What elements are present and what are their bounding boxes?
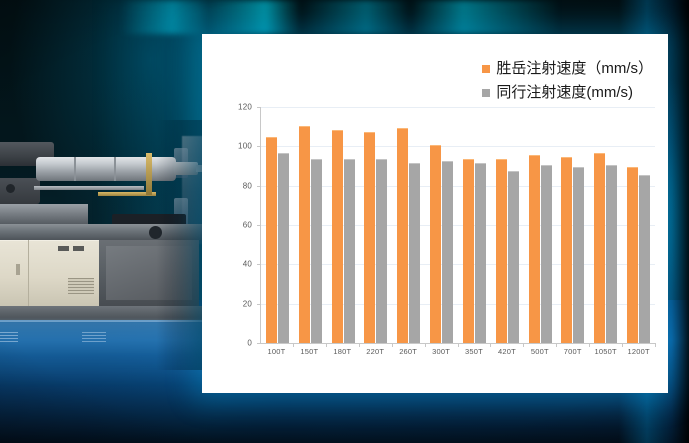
bar-series-1	[364, 132, 375, 343]
bar-group	[458, 107, 491, 343]
legend-swatch-icon-series-1	[482, 65, 490, 73]
bar-series-1	[332, 130, 343, 343]
bar-series-2	[442, 161, 453, 343]
x-axis-tick-label: 350T	[458, 347, 491, 356]
bar-group	[392, 107, 425, 343]
bar-series-2	[278, 153, 289, 343]
bar-series-1	[496, 159, 507, 343]
bar-group	[294, 107, 327, 343]
y-axis-tick-label: 100	[238, 142, 252, 151]
bar-group	[425, 107, 458, 343]
bar-group	[589, 107, 622, 343]
screenshot-stage: 胜岳注射速度（mm/s） 同行注射速度(mm/s) 02040608010012…	[0, 0, 689, 443]
x-axis-tick-label: 1050T	[589, 347, 622, 356]
bar-series-2	[541, 165, 552, 343]
bar-series-2	[639, 175, 650, 343]
x-axis-tick-label: 260T	[392, 347, 425, 356]
bar-series-2	[376, 159, 387, 343]
x-axis-tick-label: 1200T	[622, 347, 655, 356]
bar-series-2	[344, 159, 355, 343]
y-axis-tick-label: 80	[243, 181, 252, 190]
bar-series-1	[594, 153, 605, 343]
bar-series-1	[463, 159, 474, 343]
y-axis-tick-label: 20	[243, 299, 252, 308]
x-axis-tick-label: 500T	[523, 347, 556, 356]
x-axis-tick-label: 180T	[326, 347, 359, 356]
legend-swatch-icon-series-2	[482, 89, 490, 97]
bar-group	[261, 107, 294, 343]
bar-series-1	[266, 137, 277, 343]
bar-group	[491, 107, 524, 343]
bar-series-2	[311, 159, 322, 343]
bar-series-2	[606, 165, 617, 343]
bar-series-2	[475, 163, 486, 343]
x-axis-tick-label: 100T	[260, 347, 293, 356]
bar-group	[524, 107, 557, 343]
bar-group	[622, 107, 655, 343]
bar-group	[556, 107, 589, 343]
y-axis-tick-label: 0	[247, 339, 252, 348]
bar-series-1	[627, 167, 638, 343]
legend-label-series-2: 同行注射速度(mm/s)	[496, 85, 633, 100]
legend-item-series-2: 同行注射速度(mm/s)	[482, 85, 653, 100]
y-axis-tick-label: 60	[243, 221, 252, 230]
bar-series-1	[299, 126, 310, 343]
legend-item-series-1: 胜岳注射速度（mm/s）	[482, 61, 653, 76]
x-axis-tick-label: 220T	[359, 347, 392, 356]
legend-label-series-1: 胜岳注射速度（mm/s）	[496, 61, 653, 76]
x-axis-tick-label: 700T	[556, 347, 589, 356]
chart-panel: 胜岳注射速度（mm/s） 同行注射速度(mm/s) 02040608010012…	[202, 34, 668, 393]
bar-series-1	[430, 145, 441, 343]
bar-groups	[261, 107, 655, 343]
bar-series-2	[573, 167, 584, 343]
bar-series-2	[508, 171, 519, 343]
x-axis-tick-labels: 100T150T180T220T260T300T350T420T500T700T…	[260, 347, 655, 356]
plot-grid	[260, 107, 655, 343]
bar-group	[359, 107, 392, 343]
plot-area: 020406080100120 100T150T180T220T260T300T…	[230, 107, 655, 375]
bar-series-1	[397, 128, 408, 343]
chart-legend: 胜岳注射速度（mm/s） 同行注射速度(mm/s)	[482, 61, 653, 109]
y-axis-tick-labels: 020406080100120	[230, 107, 256, 343]
bar-series-1	[529, 155, 540, 343]
x-axis-tick-label: 420T	[490, 347, 523, 356]
x-axis-tick-label: 150T	[293, 347, 326, 356]
y-axis-tick-label: 120	[238, 103, 252, 112]
y-axis-tick-label: 40	[243, 260, 252, 269]
bar-series-2	[409, 163, 420, 343]
bar-group	[327, 107, 360, 343]
x-axis-tick	[655, 343, 656, 347]
bar-series-1	[561, 157, 572, 343]
x-axis-tick-label: 300T	[425, 347, 458, 356]
